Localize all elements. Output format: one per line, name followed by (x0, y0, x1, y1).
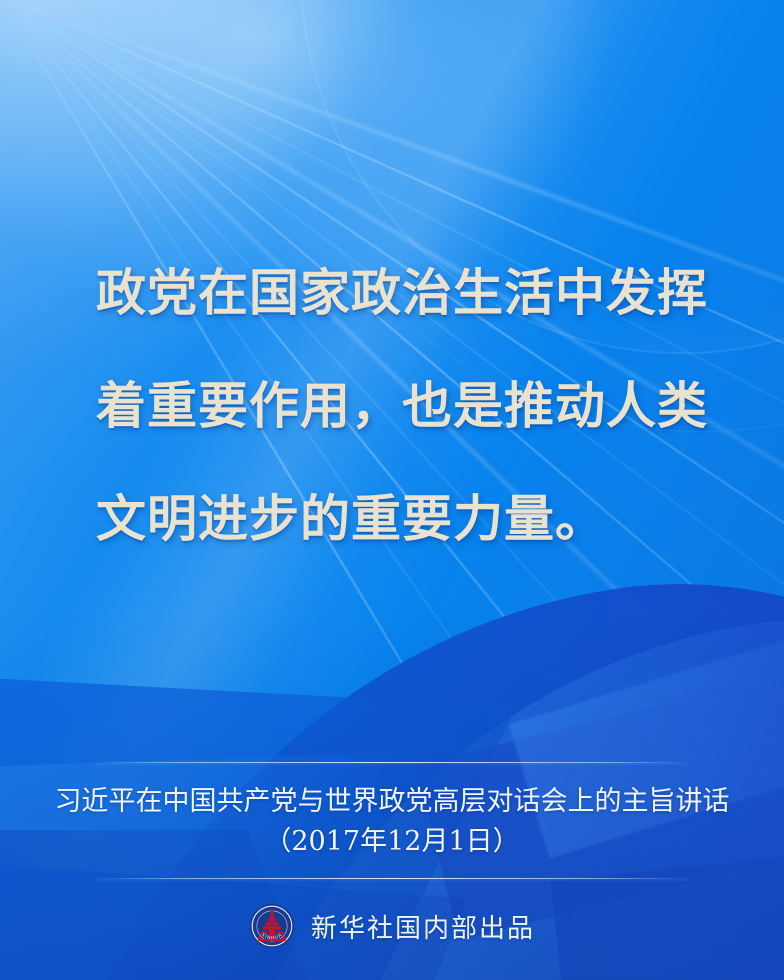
poster-canvas: 政党在国家政治生活中发挥 着重要作用，也是推动人类 文明进步的重要力量。 习近平… (0, 0, 784, 980)
divider-bottom (96, 878, 688, 879)
speech-dateline: （2017年12月1日） (0, 822, 784, 862)
divider-top (96, 762, 688, 763)
headline-line-3: 文明进步的重要力量。 (96, 462, 716, 575)
headline-line-1: 政党在国家政治生活中发挥 (96, 236, 716, 349)
speech-attribution: 习近平在中国共产党与世界政党高层对话会上的主旨讲话 (0, 781, 784, 822)
poster-footer: 习近平在中国共产党与世界政党高层对话会上的主旨讲话 （2017年12月1日） (0, 762, 784, 949)
credit-label: 新华社国内部出品 (311, 908, 535, 945)
headline-line-2: 着重要作用，也是推动人类 (96, 349, 716, 462)
xinhua-logo-icon: XINHUA (249, 903, 295, 949)
headline-block: 政党在国家政治生活中发挥 着重要作用，也是推动人类 文明进步的重要力量。 (96, 236, 716, 575)
poster-content: 政党在国家政治生活中发挥 着重要作用，也是推动人类 文明进步的重要力量。 习近平… (0, 0, 784, 980)
credit-block: XINHUA 新华社国内部出品 (0, 903, 784, 949)
